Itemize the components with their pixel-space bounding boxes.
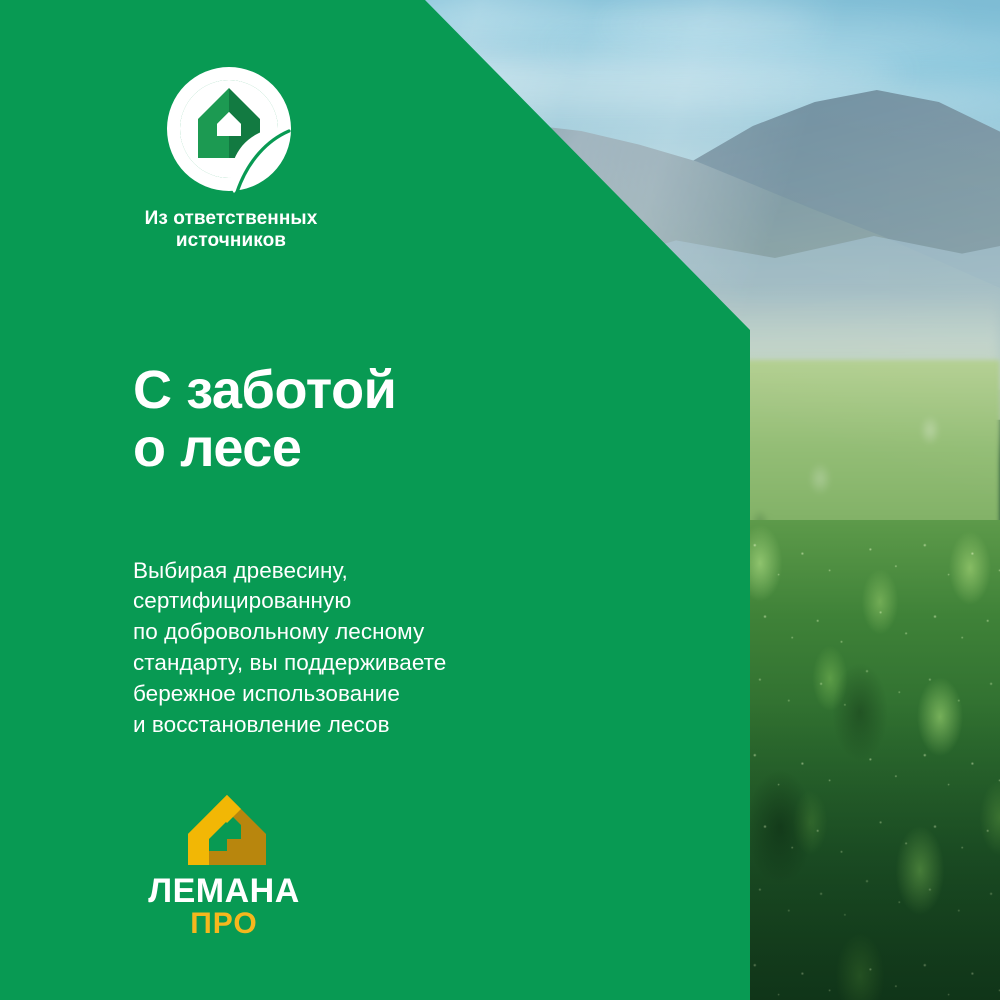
brand-name-primary: ЛЕМАНА <box>148 872 300 910</box>
lemana-pro-wordmark: ЛЕМАНА ПРО <box>133 871 315 937</box>
body-paragraph: Выбирая древесину, сертифицированную по … <box>133 556 563 741</box>
certification-caption: Из ответственных источников <box>133 208 329 252</box>
brand-name-secondary: ПРО <box>190 907 258 937</box>
brand-lockup: ЛЕМАНА ПРО <box>133 793 333 937</box>
page-title: С заботой о лесе <box>133 361 396 478</box>
certification-badge: Из ответственных источников <box>133 62 393 252</box>
house-leaf-circle-mark <box>162 62 296 196</box>
content-column: Из ответственных источников С заботой о … <box>0 0 750 1000</box>
poster-root: Из ответственных источников С заботой о … <box>0 0 1000 1000</box>
lemana-house-mark <box>179 793 275 867</box>
